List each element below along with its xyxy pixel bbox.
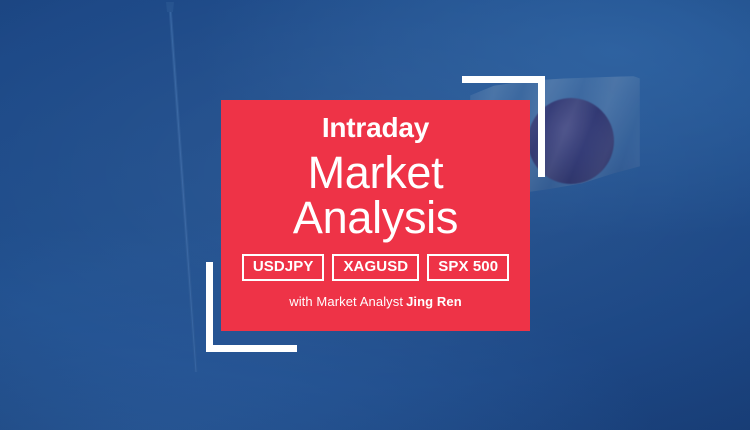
page-title-line-2: Analysis — [293, 196, 458, 241]
kicker-heading: Intraday — [322, 114, 429, 142]
byline-prefix: with Market Analyst — [289, 294, 403, 309]
instrument-tag-usdjpy[interactable]: USDJPY — [242, 254, 325, 281]
byline: with Market AnalystJing Ren — [289, 294, 462, 309]
instrument-tag-list: USDJPY XAGUSD SPX 500 — [242, 254, 509, 281]
title-card: Intraday Market Analysis USDJPY XAGUSD S… — [221, 100, 530, 331]
instrument-tag-xagusd[interactable]: XAGUSD — [332, 254, 419, 281]
instrument-tag-spx500[interactable]: SPX 500 — [427, 254, 509, 281]
market-analysis-banner: Intraday Market Analysis USDJPY XAGUSD S… — [0, 0, 750, 430]
analyst-name: Jing Ren — [406, 294, 462, 309]
page-title-line-1: Market — [293, 151, 458, 196]
page-title: Market Analysis — [293, 151, 458, 240]
